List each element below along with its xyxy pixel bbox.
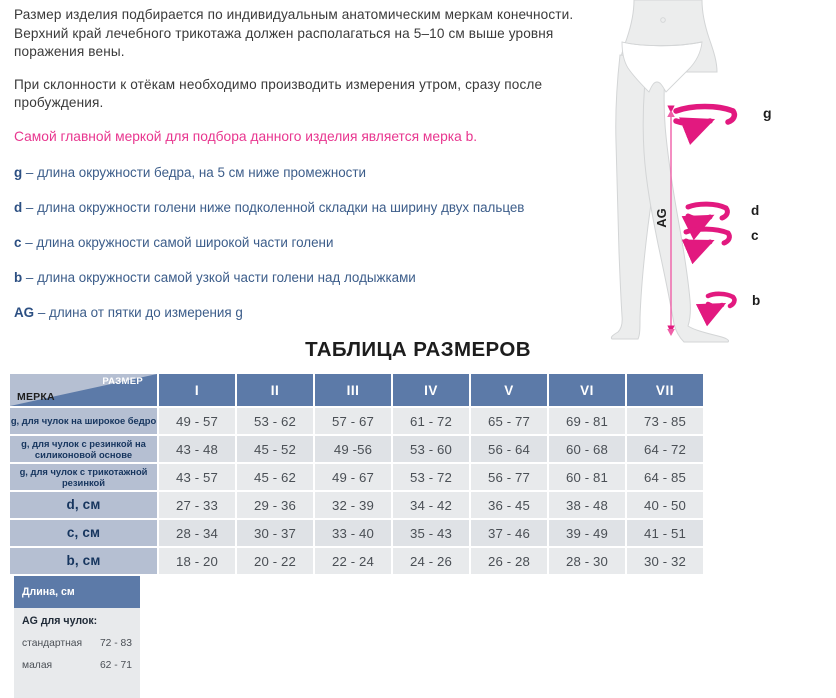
- thigh-circumference-arrow-g: [676, 107, 734, 125]
- table-cell: 61 - 72: [393, 408, 469, 434]
- definition-item-b: b – длина окружности самой узкой части г…: [14, 269, 614, 287]
- table-row: c, см 28 - 34 30 - 37 33 - 40 35 - 43 37…: [10, 520, 703, 546]
- table-cell: 53 - 60: [393, 436, 469, 462]
- page-title: ТАБЛИЦА РАЗМЕРОВ: [0, 338, 836, 362]
- table-cell: 22 - 24: [315, 548, 391, 574]
- intro-paragraph-2: При склонности к отёкам необходимо произ…: [14, 76, 614, 113]
- table-cell: 65 - 77: [471, 408, 547, 434]
- row-label: g, для чулок на широкое бедро: [10, 408, 157, 434]
- size-table-head: РАЗМЕР МЕРКА I II III IV V VI VII: [10, 374, 703, 406]
- row-label: g, для чулок с трикотажной резинкой: [10, 464, 157, 490]
- definition-text-b: длина окружности самой узкой части голен…: [37, 270, 416, 285]
- corner-measure-label: МЕРКА: [17, 391, 55, 403]
- table-cell: 69 - 81: [549, 408, 625, 434]
- intro-paragraph-1: Размер изделия подбирается по индивидуал…: [14, 6, 614, 62]
- definition-key-ag: AG: [14, 305, 34, 320]
- calf-widest-circumference-arrow-c: [686, 229, 729, 244]
- table-cell: 30 - 32: [627, 548, 703, 574]
- table-cell: 53 - 72: [393, 464, 469, 490]
- leg-diagram-svg: AG g d c b: [600, 0, 836, 345]
- table-cell: 34 - 42: [393, 492, 469, 518]
- calf-upper-circumference-arrow-d: [688, 204, 727, 219]
- label-b: b: [752, 293, 760, 308]
- table-cell: 49 -56: [315, 436, 391, 462]
- definition-dash-b: –: [26, 270, 33, 285]
- column-header-5: V: [471, 374, 547, 406]
- size-table-body: g, для чулок на широкое бедро 49 - 57 53…: [10, 408, 703, 574]
- table-row: d, см 27 - 33 29 - 36 32 - 39 34 - 42 36…: [10, 492, 703, 518]
- table-cell: 45 - 62: [237, 464, 313, 490]
- length-panel-title: AG для чулок:: [22, 615, 132, 627]
- table-row: g, для чулок с трикотажной резинкой 43 -…: [10, 464, 703, 490]
- length-panel-header: Длина, см: [14, 576, 140, 608]
- length-panel-row-small: малая 62 - 71: [22, 660, 132, 671]
- size-table-section: РАЗМЕР МЕРКА I II III IV V VI VII g, для…: [8, 372, 828, 698]
- definition-key-b: b: [14, 270, 22, 285]
- length-row-name: стандартная: [22, 638, 82, 649]
- table-corner-header: РАЗМЕР МЕРКА: [10, 374, 157, 406]
- table-cell: 38 - 48: [549, 492, 625, 518]
- table-cell: 28 - 30: [549, 548, 625, 574]
- leg-measurement-diagram: AG g d c b: [600, 0, 836, 345]
- row-label: c, см: [10, 520, 157, 546]
- table-cell: 53 - 62: [237, 408, 313, 434]
- definition-text-g: длина окружности бедра, на 5 см ниже про…: [37, 165, 366, 180]
- definition-text-c: длина окружности самой широкой части гол…: [36, 235, 333, 250]
- column-header-2: II: [237, 374, 313, 406]
- definition-dash-d: –: [26, 200, 33, 215]
- ag-label: AG: [654, 208, 669, 228]
- table-row: b, см 18 - 20 20 - 22 22 - 24 24 - 26 26…: [10, 548, 703, 574]
- table-cell: 57 - 67: [315, 408, 391, 434]
- row-label: b, см: [10, 548, 157, 574]
- length-panel-body: AG для чулок: стандартная 72 - 83 малая …: [14, 608, 140, 698]
- table-cell: 20 - 22: [237, 548, 313, 574]
- table-cell: 32 - 39: [315, 492, 391, 518]
- table-cell: 33 - 40: [315, 520, 391, 546]
- size-table-header-row: РАЗМЕР МЕРКА I II III IV V VI VII: [10, 374, 703, 406]
- table-cell: 64 - 72: [627, 436, 703, 462]
- size-table: РАЗМЕР МЕРКА I II III IV V VI VII g, для…: [8, 372, 705, 576]
- table-cell: 43 - 48: [159, 436, 235, 462]
- table-cell: 24 - 26: [393, 548, 469, 574]
- table-cell: 56 - 77: [471, 464, 547, 490]
- table-cell: 18 - 20: [159, 548, 235, 574]
- table-cell: 29 - 36: [237, 492, 313, 518]
- measurement-definitions-list: g – длина окружности бедра, на 5 см ниже…: [14, 164, 614, 322]
- female-body-silhouette: [611, 0, 728, 342]
- table-cell: 49 - 67: [315, 464, 391, 490]
- table-row: g, для чулок на широкое бедро 49 - 57 53…: [10, 408, 703, 434]
- table-cell: 49 - 57: [159, 408, 235, 434]
- column-header-1: I: [159, 374, 235, 406]
- table-cell: 43 - 57: [159, 464, 235, 490]
- table-row: g, для чулок с резинкой на силиконовой о…: [10, 436, 703, 462]
- length-row-value: 62 - 71: [100, 660, 132, 671]
- row-label: g, для чулок с резинкой на силиконовой о…: [10, 436, 157, 462]
- table-cell: 28 - 34: [159, 520, 235, 546]
- length-panel-row-standard: стандартная 72 - 83: [22, 638, 132, 649]
- length-side-panel: Длина, см AG для чулок: стандартная 72 -…: [14, 576, 140, 698]
- label-g: g: [763, 105, 772, 121]
- table-cell: 27 - 33: [159, 492, 235, 518]
- table-cell: 41 - 51: [627, 520, 703, 546]
- table-cell: 30 - 37: [237, 520, 313, 546]
- definition-dash-ag: –: [38, 305, 45, 320]
- column-header-4: IV: [393, 374, 469, 406]
- instructions-column: Размер изделия подбирается по индивидуал…: [14, 6, 614, 339]
- definition-dash-g: –: [26, 165, 33, 180]
- label-c: c: [751, 228, 759, 243]
- definition-key-d: d: [14, 200, 22, 215]
- definition-key-g: g: [14, 165, 22, 180]
- definition-item-c: c – длина окружности самой широкой части…: [14, 234, 614, 252]
- table-cell: 37 - 46: [471, 520, 547, 546]
- length-row-value: 72 - 83: [100, 638, 132, 649]
- definition-dash-c: –: [25, 235, 32, 250]
- table-cell: 35 - 43: [393, 520, 469, 546]
- definition-item-ag: AG – длина от пятки до измерения g: [14, 304, 614, 322]
- table-cell: 26 - 28: [471, 548, 547, 574]
- accent-note: Самой главной меркой для подбора данного…: [14, 127, 614, 146]
- table-cell: 39 - 49: [549, 520, 625, 546]
- ankle-circumference-arrow-b: [708, 294, 734, 307]
- definition-text-ag: длина от пятки до измерения g: [49, 305, 243, 320]
- definition-item-g: g – длина окружности бедра, на 5 см ниже…: [14, 164, 614, 182]
- column-header-7: VII: [627, 374, 703, 406]
- table-cell: 40 - 50: [627, 492, 703, 518]
- table-cell: 64 - 85: [627, 464, 703, 490]
- table-cell: 60 - 81: [549, 464, 625, 490]
- definition-key-c: c: [14, 235, 21, 250]
- definition-item-d: d – длина окружности голени ниже подколе…: [14, 199, 614, 217]
- definition-text-d: длина окружности голени ниже подколенной…: [37, 200, 524, 215]
- table-cell: 60 - 68: [549, 436, 625, 462]
- length-row-name: малая: [22, 660, 52, 671]
- table-cell: 73 - 85: [627, 408, 703, 434]
- column-header-3: III: [315, 374, 391, 406]
- table-cell: 36 - 45: [471, 492, 547, 518]
- corner-size-label: РАЗМЕР: [102, 376, 143, 387]
- row-label: d, см: [10, 492, 157, 518]
- table-cell: 56 - 64: [471, 436, 547, 462]
- label-d: d: [751, 203, 759, 218]
- table-cell: 45 - 52: [237, 436, 313, 462]
- column-header-6: VI: [549, 374, 625, 406]
